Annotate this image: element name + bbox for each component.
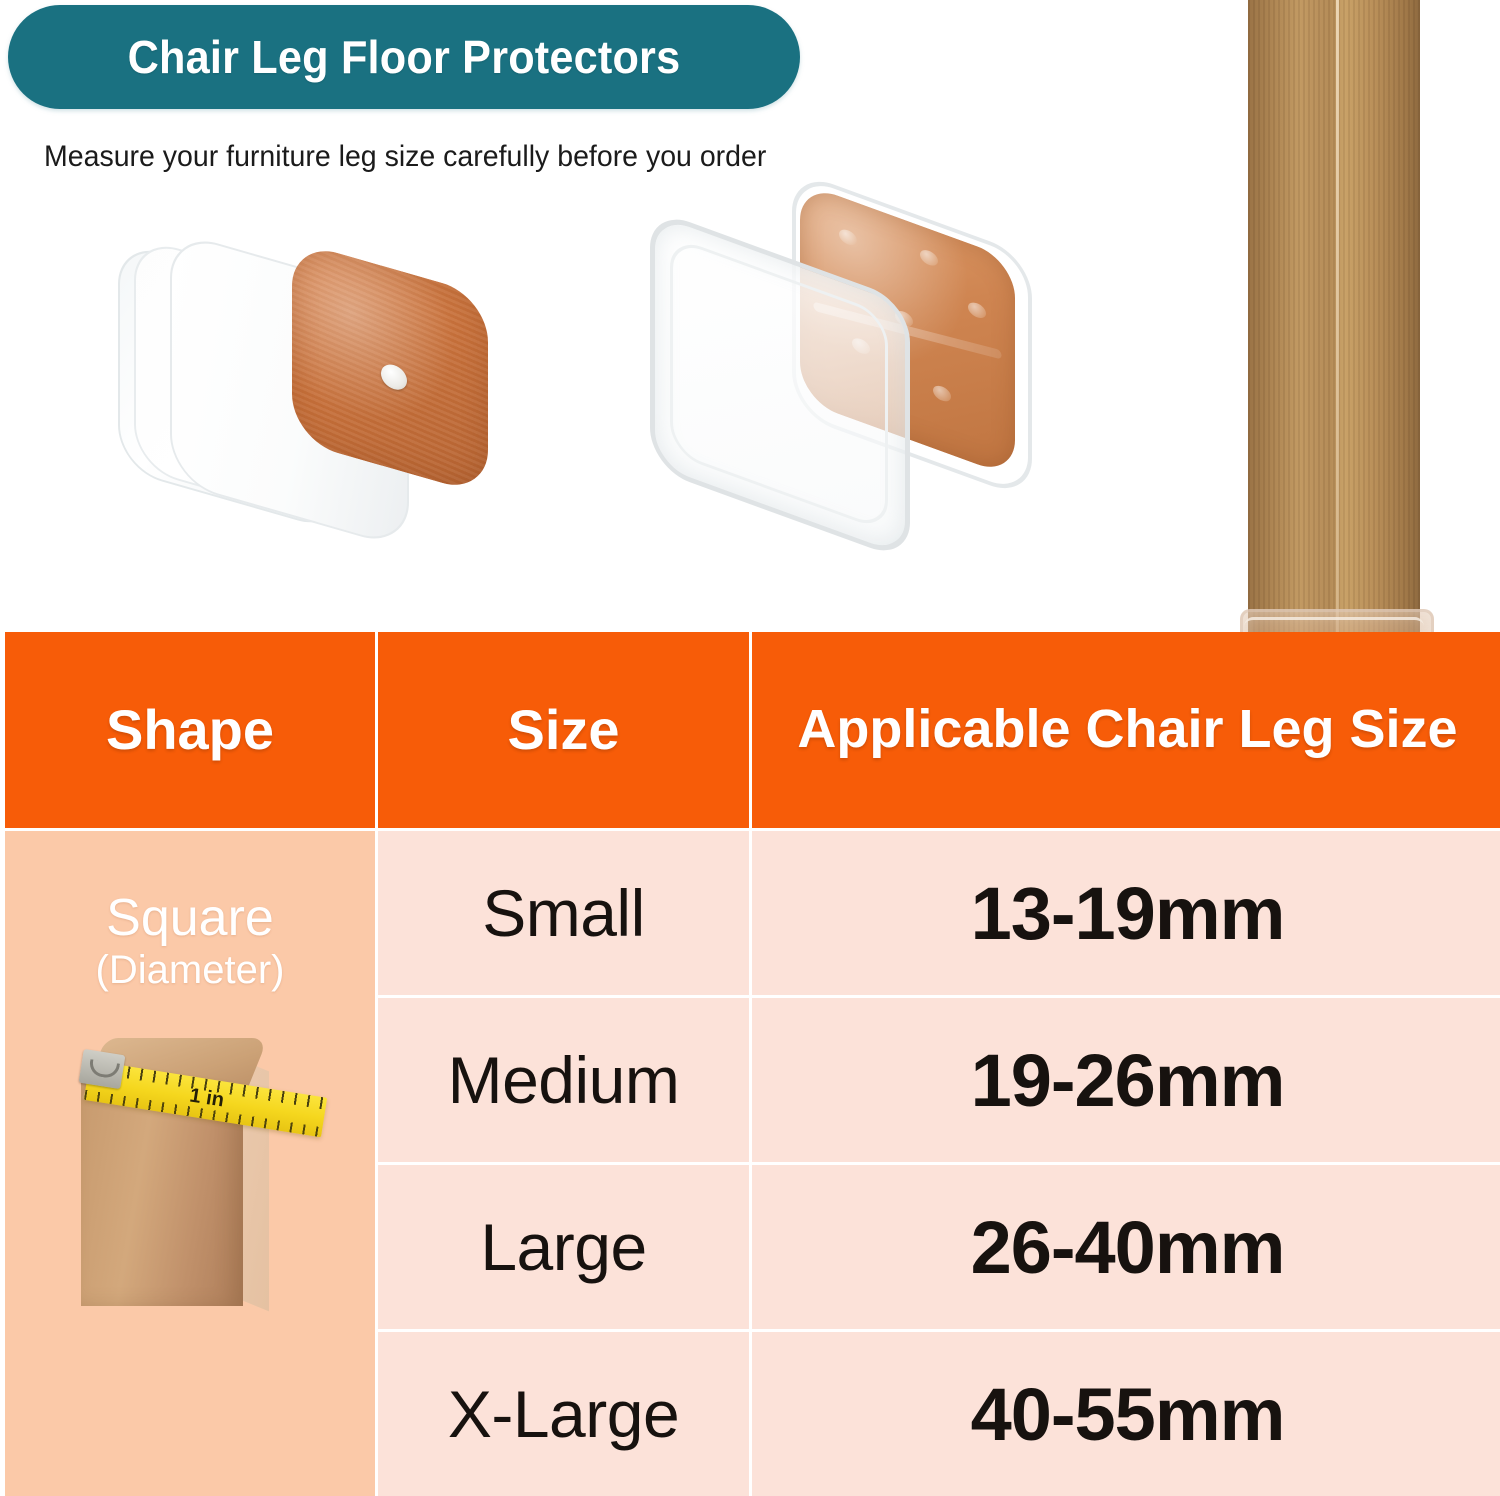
table-row: 26-40mm bbox=[752, 1165, 1500, 1329]
tape-hook-icon bbox=[79, 1049, 126, 1089]
table-row: 19-26mm bbox=[752, 998, 1500, 1162]
product-image-white-cap bbox=[110, 250, 480, 580]
wooden-leg bbox=[1248, 0, 1420, 635]
table-row: 13-19mm bbox=[752, 831, 1500, 995]
shape-cell-square: Square (Diameter) 1 in bbox=[5, 831, 375, 1496]
shape-qualifier: (Diameter) bbox=[96, 948, 285, 993]
header-banner: Chair Leg Floor Protectors bbox=[8, 5, 800, 109]
center-nub-icon bbox=[381, 361, 407, 392]
page-title: Chair Leg Floor Protectors bbox=[128, 30, 681, 84]
table-row: Medium bbox=[378, 998, 749, 1162]
column-header-leg-size: Applicable Chair Leg Size bbox=[752, 632, 1500, 828]
product-photo-strip bbox=[0, 195, 1500, 625]
table-row: 40-55mm bbox=[752, 1332, 1500, 1496]
product-image-clear-cap bbox=[640, 213, 1030, 593]
size-chart-table: Shape Size Applicable Chair Leg Size Squ… bbox=[5, 632, 1497, 1484]
table-row: X-Large bbox=[378, 1332, 749, 1496]
leg-corner-edge bbox=[1336, 0, 1339, 635]
measurement-illustration: 1 in bbox=[45, 1016, 345, 1316]
table-row: Large bbox=[378, 1165, 749, 1329]
shape-name: Square bbox=[106, 891, 274, 946]
column-header-shape: Shape bbox=[5, 632, 375, 828]
table-row: Small bbox=[378, 831, 749, 995]
header-subtitle: Measure your furniture leg size carefull… bbox=[44, 140, 766, 174]
column-header-size: Size bbox=[378, 632, 749, 828]
